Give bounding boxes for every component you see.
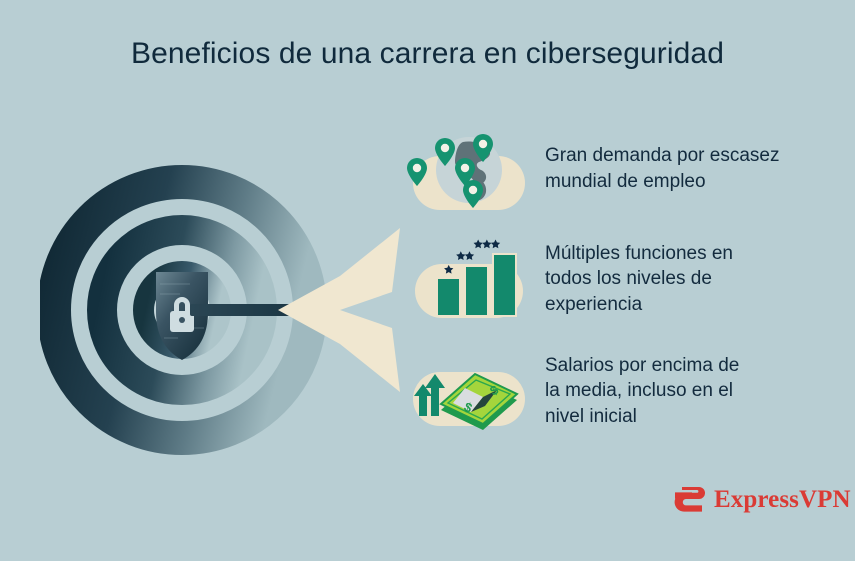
benefit-icon-2: $ $ (405, 344, 533, 438)
bar-chart-bars (437, 254, 516, 316)
star-icon (465, 251, 474, 260)
infographic-canvas: Beneficios de una carrera en ciberseguri… (0, 0, 855, 561)
target-with-arrow-graphic (40, 160, 400, 460)
benefit-item-global-demand: Gran demanda por escasez mundial de empl… (405, 122, 855, 216)
benefit-icon-1 (405, 232, 533, 326)
star-icon (456, 251, 465, 260)
page-title: Beneficios de una carrera en ciberseguri… (0, 36, 855, 72)
star-icon (482, 239, 491, 248)
benefit-text-0: Gran demanda por escasez mundial de empl… (545, 143, 855, 194)
benefit-icon-0 (405, 122, 533, 216)
benefit-text-2: Salarios por encima de la media, incluso… (545, 353, 855, 430)
benefit-text-1: Múltiples funciones en todos los niveles… (545, 241, 855, 318)
globe-with-location-pins-icon (405, 122, 533, 216)
bar-1 (437, 278, 460, 316)
benefit-item-above-average-salary: $ $ Salarios por encima de la media, inc… (405, 344, 855, 438)
benefit-item-multiple-roles: Múltiples funciones en todos los niveles… (405, 232, 855, 326)
expressvpn-logo-mark (672, 484, 706, 514)
money-stack-with-up-arrows-icon: $ $ (405, 344, 533, 438)
target-illustration (40, 160, 400, 460)
brand-logo: ExpressVPN (672, 484, 851, 514)
star-icon (491, 239, 500, 248)
bar-3 (493, 254, 516, 316)
bar-2 (465, 266, 488, 316)
star-icon (474, 239, 483, 248)
brand-logo-text: ExpressVPN (714, 487, 851, 512)
bar-chart-with-stars-icon (405, 232, 533, 326)
